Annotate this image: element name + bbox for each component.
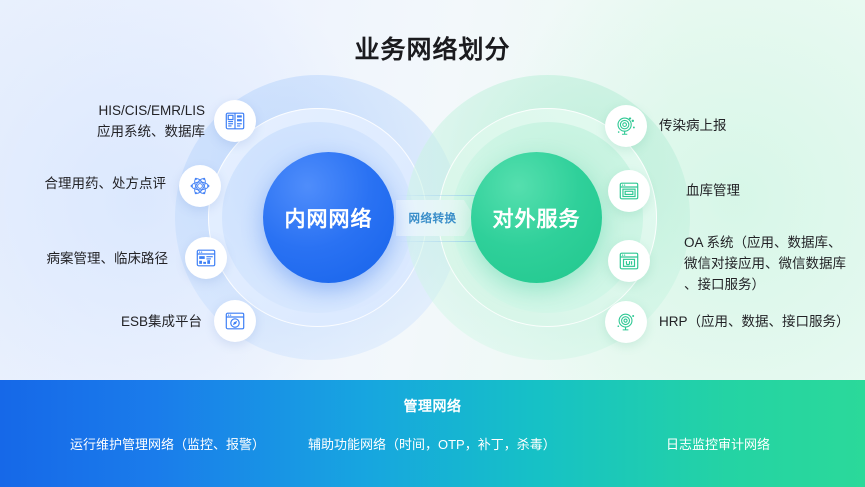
oa-window-icon xyxy=(618,250,640,272)
connector-line-top xyxy=(396,195,482,196)
inner-network-core-label: 内网网络 xyxy=(285,203,373,233)
diagram-canvas: 业务网络划分 网络转换 内网网络 对外服务 xyxy=(0,0,865,487)
target-radar-icon xyxy=(615,115,637,137)
blood-bank-window-icon-bubble[interactable] xyxy=(608,170,650,212)
compass-window-icon-bubble[interactable] xyxy=(214,300,256,342)
connector-label: 网络转换 xyxy=(409,210,463,226)
external-service-core-label: 对外服务 xyxy=(493,203,581,233)
left-node-label-2: 病案管理、临床路径 xyxy=(20,248,168,269)
inner-network-core[interactable]: 内网网络 xyxy=(263,152,394,283)
network-conversion-arrow: 网络转换 xyxy=(396,200,475,236)
management-network-item-2[interactable]: 日志监控审计网络 xyxy=(666,434,770,453)
document-layout-icon-bubble[interactable] xyxy=(214,100,256,142)
blood-bank-window-icon xyxy=(618,180,640,202)
left-node-label-3: ESB集成平台 xyxy=(20,311,202,332)
target-radar-icon-bubble[interactable] xyxy=(605,105,647,147)
management-network-title: 管理网络 xyxy=(0,396,865,416)
molecule-network-icon xyxy=(189,175,211,197)
page-title: 业务网络划分 xyxy=(0,30,865,66)
right-node-label-2: OA 系统（应用、数据库、 微信对接应用、微信数据库 、接口服务） xyxy=(684,232,865,295)
right-node-label-1: 血库管理 xyxy=(686,180,865,201)
management-network-items: 运行维护管理网络（监控、报警） 辅助功能网络（时间，OTP，补丁，杀毒） 日志监… xyxy=(0,434,865,456)
right-node-label-0: 传染病上报 xyxy=(659,115,859,136)
external-service-core[interactable]: 对外服务 xyxy=(471,152,602,283)
hrp-target-icon xyxy=(615,311,637,333)
document-layout-icon xyxy=(224,110,246,132)
management-network-item-1[interactable]: 辅助功能网络（时间，OTP，补丁，杀毒） xyxy=(308,434,556,453)
management-network-item-0[interactable]: 运行维护管理网络（监控、报警） xyxy=(70,434,265,453)
connector-line-bottom xyxy=(396,241,482,242)
oa-window-icon-bubble[interactable] xyxy=(608,240,650,282)
compass-window-icon xyxy=(224,310,246,332)
molecule-network-icon-bubble[interactable] xyxy=(179,165,221,207)
left-node-label-0: HIS/CIS/EMR/LIS 应用系统、数据库 xyxy=(20,100,205,142)
left-node-label-1: 合理用药、处方点评 xyxy=(20,173,166,194)
dashboard-window-icon xyxy=(195,247,217,269)
dashboard-window-icon-bubble[interactable] xyxy=(185,237,227,279)
hrp-target-icon-bubble[interactable] xyxy=(605,301,647,343)
right-node-label-3: HRP（应用、数据、接口服务） xyxy=(659,311,864,332)
